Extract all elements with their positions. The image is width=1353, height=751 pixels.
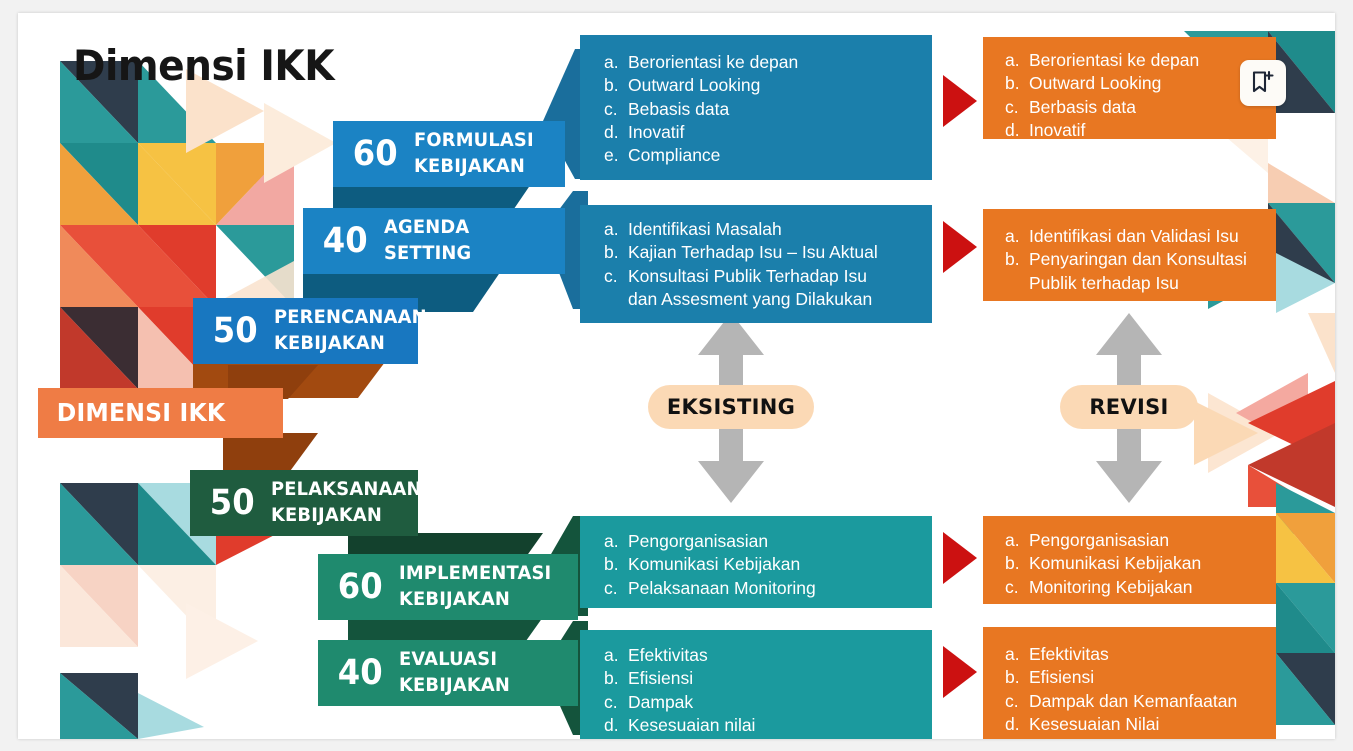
item-text: Bebasis data [628, 98, 932, 121]
item-marker: b. [1005, 72, 1029, 95]
list-item: c.Berbasis data [1005, 96, 1276, 119]
item-text: Konsultasi Publik Terhadap Isu dan Asses… [628, 265, 932, 312]
item-marker: a. [1005, 49, 1029, 72]
list-item: a.Pengorganisasian [604, 530, 932, 553]
list-item: c.Monitoring Kebijakan [1005, 576, 1276, 599]
ribbon-label-line1: IMPLEMENTASI [399, 561, 551, 587]
item-marker: a. [1005, 225, 1029, 248]
list-item: a.Berorientasi ke depan [604, 51, 932, 74]
item-text: Outward Looking [628, 74, 932, 97]
item-marker: a. [1005, 529, 1029, 552]
pill-text: REVISI [1089, 395, 1168, 419]
banner-label: DIMENSI IKK [38, 388, 225, 438]
item-text: Berorientasi ke depan [628, 51, 932, 74]
item-marker: b. [604, 667, 628, 690]
item-marker: c. [1005, 690, 1029, 713]
ribbon-score: 40 [306, 224, 380, 259]
ribbon-label-line2: KEBIJAKAN [414, 154, 534, 180]
ribbon-label-line1: PELAKSANAAN [271, 477, 422, 503]
ribbon-score: 50 [193, 486, 267, 521]
item-text: Kesesuaian nilai [628, 714, 932, 737]
item-marker: d. [604, 714, 628, 737]
ribbon-implementasi-kebijakan[interactable]: 60 IMPLEMENTASI KEBIJAKAN [318, 554, 578, 620]
item-marker: c. [1005, 96, 1029, 119]
list-item: b.Efisiensi [1005, 666, 1276, 689]
item-marker: d. [604, 121, 628, 144]
item-marker: a. [604, 218, 628, 241]
ribbon-label-line2: KEBIJAKAN [274, 331, 427, 357]
list-item: a.Identifikasi Masalah [604, 218, 932, 241]
item-marker: d. [1005, 713, 1029, 736]
item-marker: b. [1005, 248, 1029, 295]
ribbon-label: PERENCANAAN KEBIJAKAN [274, 305, 427, 356]
list-item: a.Berorientasi ke depan [1005, 49, 1276, 72]
list-item: b.Penyaringan dan Konsultasi Publik terh… [1005, 248, 1276, 295]
revisi-agenda-setting-box[interactable]: a.Identifikasi dan Validasi Isu b.Penyar… [983, 209, 1276, 301]
item-text: Komunikasi Kebijakan [1029, 552, 1276, 575]
list-item: b.Komunikasi Kebijakan [604, 553, 932, 576]
revisi-evaluasi-box[interactable]: a.Efektivitas b.Efisiensi c.Dampak dan K… [983, 627, 1276, 739]
bookmark-add-icon [1250, 70, 1276, 96]
label-pill-revisi: REVISI [1060, 385, 1198, 429]
item-text: Efisiensi [1029, 666, 1276, 689]
list: a.Berorientasi ke depan b.Outward Lookin… [604, 51, 932, 167]
revisi-implementasi-box[interactable]: a.Pengorganisasian b.Komunikasi Kebijaka… [983, 516, 1276, 604]
item-marker: b. [604, 553, 628, 576]
ribbon-label: IMPLEMENTASI KEBIJAKAN [399, 561, 551, 612]
item-text: Kesesuaian Nilai [1029, 713, 1276, 736]
eksisting-evaluasi-box[interactable]: a.Efektivitas b.Efisiensi c.Dampak d.Kes… [580, 630, 932, 739]
item-text: Penyaringan dan Konsultasi Publik terhad… [1029, 248, 1276, 295]
list-item: d.Inovatif [1005, 119, 1276, 142]
item-text: Monitoring Kebijakan [1029, 576, 1276, 599]
list-item: a.Efektivitas [1005, 643, 1276, 666]
ribbon-label: AGENDA SETTING [384, 215, 471, 266]
ribbon-score: 60 [336, 137, 410, 172]
item-text: Kajian Terhadap Isu – Isu Aktual [628, 241, 932, 264]
item-marker: a. [1005, 643, 1029, 666]
ribbon-evaluasi-kebijakan[interactable]: 40 EVALUASI KEBIJAKAN [318, 640, 578, 706]
item-text: Identifikasi Masalah [628, 218, 932, 241]
ribbon-pelaksanaan-kebijakan[interactable]: 50 PELAKSANAAN KEBIJAKAN [190, 470, 418, 536]
item-marker: c. [604, 265, 628, 312]
item-text: Berorientasi ke depan [1029, 49, 1276, 72]
arrow-right-agenda [943, 221, 977, 273]
eksisting-formulasi-box[interactable]: a.Berorientasi ke depan b.Outward Lookin… [580, 35, 932, 180]
list-item: d.Inovatif [604, 121, 932, 144]
item-marker: b. [1005, 666, 1029, 689]
list-item: d.Kesesuaian Nilai [1005, 713, 1276, 736]
item-text: Pengorganisasian [1029, 529, 1276, 552]
item-marker: b. [604, 241, 628, 264]
arrow-right-implementasi [943, 532, 977, 584]
list-item: b.Efisiensi [604, 667, 932, 690]
item-text: Dampak dan Kemanfaatan [1029, 690, 1276, 713]
item-marker: c. [604, 577, 628, 600]
eksisting-implementasi-box[interactable]: a.Pengorganisasian b.Komunikasi Kebijaka… [580, 516, 932, 608]
item-marker: c. [604, 691, 628, 714]
list-item: a.Efektivitas [604, 644, 932, 667]
item-text: Komunikasi Kebijakan [628, 553, 932, 576]
list-item: a.Identifikasi dan Validasi Isu [1005, 225, 1276, 248]
list-item: c.Dampak [604, 691, 932, 714]
page-title: Dimensi IKK [73, 41, 334, 90]
pill-text: EKSISTING [667, 395, 795, 419]
item-text: Compliance [628, 144, 932, 167]
list: a.Identifikasi dan Validasi Isu b.Penyar… [1005, 225, 1276, 295]
ribbon-perencanaan-kebijakan[interactable]: 50 PERENCANAAN KEBIJAKAN [193, 298, 418, 364]
list: a.Pengorganisasian b.Komunikasi Kebijaka… [1005, 529, 1276, 599]
list-item: c.Pelaksanaan Monitoring [604, 577, 932, 600]
list-item: d.Kesesuaian nilai [604, 714, 932, 737]
eksisting-agenda-setting-box[interactable]: a.Identifikasi Masalah b.Kajian Terhadap… [580, 205, 932, 323]
ribbon-label-line2: KEBIJAKAN [399, 673, 510, 699]
item-text: Berbasis data [1029, 96, 1276, 119]
ribbon-label: PELAKSANAAN KEBIJAKAN [271, 477, 422, 528]
item-text: Efektivitas [1029, 643, 1276, 666]
screenshot-stage: Dimensi IKK 60 FORMULASI KEBIJAKAN 40 AG… [0, 0, 1353, 751]
list-item: b.Outward Looking [1005, 72, 1276, 95]
ribbon-agenda-setting[interactable]: 40 AGENDA SETTING [303, 208, 565, 274]
arrow-right-evaluasi [943, 646, 977, 698]
item-marker: a. [604, 644, 628, 667]
revisi-formulasi-box[interactable]: a.Berorientasi ke depan b.Outward Lookin… [983, 37, 1276, 139]
item-text: Efisiensi [628, 667, 932, 690]
item-text: Inovatif [628, 121, 932, 144]
list: a.Efektivitas b.Efisiensi c.Dampak d.Kes… [604, 644, 932, 737]
item-marker: a. [604, 51, 628, 74]
ribbon-label-line2: SETTING [384, 241, 471, 267]
item-marker: b. [1005, 552, 1029, 575]
list-item: c.Konsultasi Publik Terhadap Isu dan Ass… [604, 265, 932, 312]
ribbon-label-line1: PERENCANAAN [274, 305, 427, 331]
item-text: Inovatif [1029, 119, 1276, 142]
item-text: Identifikasi dan Validasi Isu [1029, 225, 1276, 248]
list-item: e.Compliance [604, 144, 932, 167]
ribbon-label-line1: FORMULASI [414, 128, 534, 154]
list: a.Pengorganisasian b.Komunikasi Kebijaka… [604, 530, 932, 600]
list-item: b.Outward Looking [604, 74, 932, 97]
item-marker: e. [604, 144, 628, 167]
list-item: a.Pengorganisasian [1005, 529, 1276, 552]
list: a.Efektivitas b.Efisiensi c.Dampak dan K… [1005, 643, 1276, 736]
ribbon-label-line1: AGENDA [384, 215, 471, 241]
item-marker: c. [1005, 576, 1029, 599]
ribbon-score: 60 [321, 570, 395, 605]
label-pill-eksisting: EKSISTING [648, 385, 814, 429]
list: a.Berorientasi ke depan b.Outward Lookin… [1005, 49, 1276, 142]
item-text: Pelaksanaan Monitoring [628, 577, 932, 600]
ribbon-label-line2: KEBIJAKAN [271, 503, 422, 529]
arrow-right-formulasi [943, 75, 977, 127]
item-marker: a. [604, 530, 628, 553]
ribbon-label: EVALUASI KEBIJAKAN [399, 647, 510, 698]
item-text: Efektivitas [628, 644, 932, 667]
item-marker: b. [604, 74, 628, 97]
list-item: c.Bebasis data [604, 98, 932, 121]
item-text: Pengorganisasian [628, 530, 932, 553]
ribbon-label-line1: EVALUASI [399, 647, 510, 673]
ribbon-score: 40 [321, 656, 395, 691]
infographic-canvas: Dimensi IKK 60 FORMULASI KEBIJAKAN 40 AG… [18, 13, 1335, 739]
save-bookmark-button[interactable] [1240, 60, 1286, 106]
list-item: b.Komunikasi Kebijakan [1005, 552, 1276, 575]
item-text: Dampak [628, 691, 932, 714]
banner-dimensi-ikk[interactable]: DIMENSI IKK [38, 388, 283, 438]
ribbon-formulasi-kebijakan[interactable]: 60 FORMULASI KEBIJAKAN [333, 121, 565, 187]
list-item: b.Kajian Terhadap Isu – Isu Aktual [604, 241, 932, 264]
item-marker: c. [604, 98, 628, 121]
list-item: c.Dampak dan Kemanfaatan [1005, 690, 1276, 713]
ribbon-label-line2: KEBIJAKAN [399, 587, 551, 613]
ribbon-score: 50 [196, 314, 270, 349]
item-text: Outward Looking [1029, 72, 1276, 95]
ribbon-label: FORMULASI KEBIJAKAN [414, 128, 534, 179]
list: a.Identifikasi Masalah b.Kajian Terhadap… [604, 218, 932, 311]
item-marker: d. [1005, 119, 1029, 142]
